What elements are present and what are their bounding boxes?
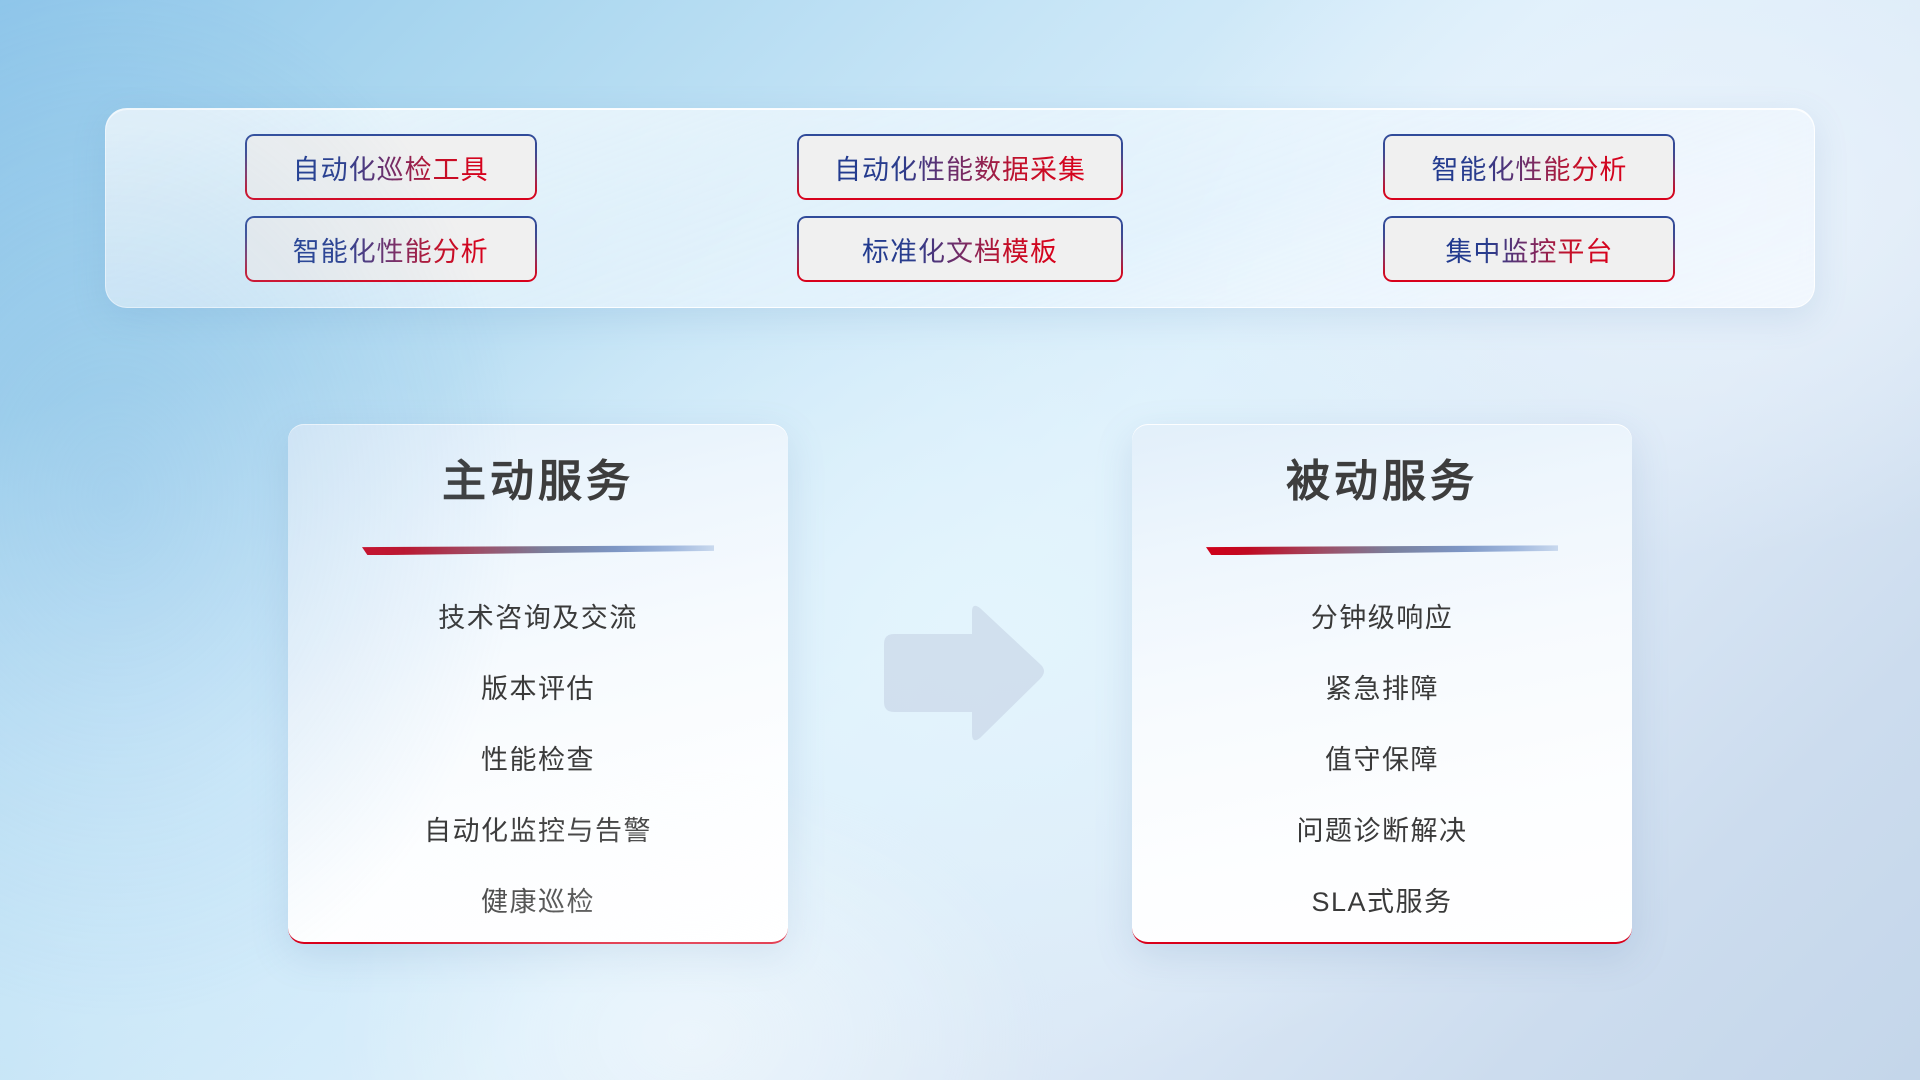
service-card-reactive: 被动服务 分钟级响应 紧急排障 值守保障 问题诊断解决 SLA式服务 bbox=[1132, 424, 1632, 944]
capability-pill-label: 智能化性能分析 bbox=[293, 230, 489, 269]
service-card-proactive: 主动服务 技术咨询及交流 版本评估 性能检查 自动化监控与告警 健康巡检 bbox=[288, 424, 788, 944]
list-item: 问题诊断解决 bbox=[1132, 796, 1632, 867]
capability-pill-1[interactable]: 自动化巡检工具 bbox=[245, 134, 537, 200]
list-item: 版本评估 bbox=[288, 654, 788, 725]
list-item: 值守保障 bbox=[1132, 725, 1632, 796]
list-item: 紧急排障 bbox=[1132, 654, 1632, 725]
slide-canvas: 自动化巡检工具 自动化性能数据采集 智能化性能分析 智能化性能分析 标准化文档模… bbox=[0, 0, 1920, 1080]
capability-pill-2[interactable]: 自动化性能数据采集 bbox=[797, 134, 1123, 200]
card-item-list: 分钟级响应 紧急排障 值守保障 问题诊断解决 SLA式服务 bbox=[1132, 583, 1632, 938]
capability-pill-label: 标准化文档模板 bbox=[862, 230, 1058, 269]
card-item-list: 技术咨询及交流 版本评估 性能检查 自动化监控与告警 健康巡检 bbox=[288, 583, 788, 938]
capability-pill-label: 智能化性能分析 bbox=[1431, 148, 1627, 187]
capability-pill-label: 自动化性能数据采集 bbox=[834, 148, 1086, 187]
capability-pill-4[interactable]: 智能化性能分析 bbox=[245, 216, 537, 282]
list-item: 健康巡检 bbox=[288, 867, 788, 938]
capability-pill-5[interactable]: 标准化文档模板 bbox=[797, 216, 1123, 282]
capabilities-grid: 自动化巡检工具 自动化性能数据采集 智能化性能分析 智能化性能分析 标准化文档模… bbox=[186, 134, 1734, 282]
capabilities-panel: 自动化巡检工具 自动化性能数据采集 智能化性能分析 智能化性能分析 标准化文档模… bbox=[105, 108, 1815, 308]
list-item: 技术咨询及交流 bbox=[288, 583, 788, 654]
capability-pill-3[interactable]: 智能化性能分析 bbox=[1383, 134, 1675, 200]
arrow-right-icon bbox=[876, 600, 1046, 746]
capability-pill-label: 集中监控平台 bbox=[1445, 230, 1613, 269]
list-item: SLA式服务 bbox=[1132, 867, 1632, 938]
card-title: 被动服务 bbox=[1132, 456, 1632, 509]
list-item: 自动化监控与告警 bbox=[288, 796, 788, 867]
card-title-divider bbox=[1206, 545, 1558, 555]
capability-pill-6[interactable]: 集中监控平台 bbox=[1383, 216, 1675, 282]
card-title-divider bbox=[362, 545, 714, 555]
card-title: 主动服务 bbox=[288, 456, 788, 509]
capability-pill-label: 自动化巡检工具 bbox=[293, 148, 489, 187]
list-item: 性能检查 bbox=[288, 725, 788, 796]
list-item: 分钟级响应 bbox=[1132, 583, 1632, 654]
